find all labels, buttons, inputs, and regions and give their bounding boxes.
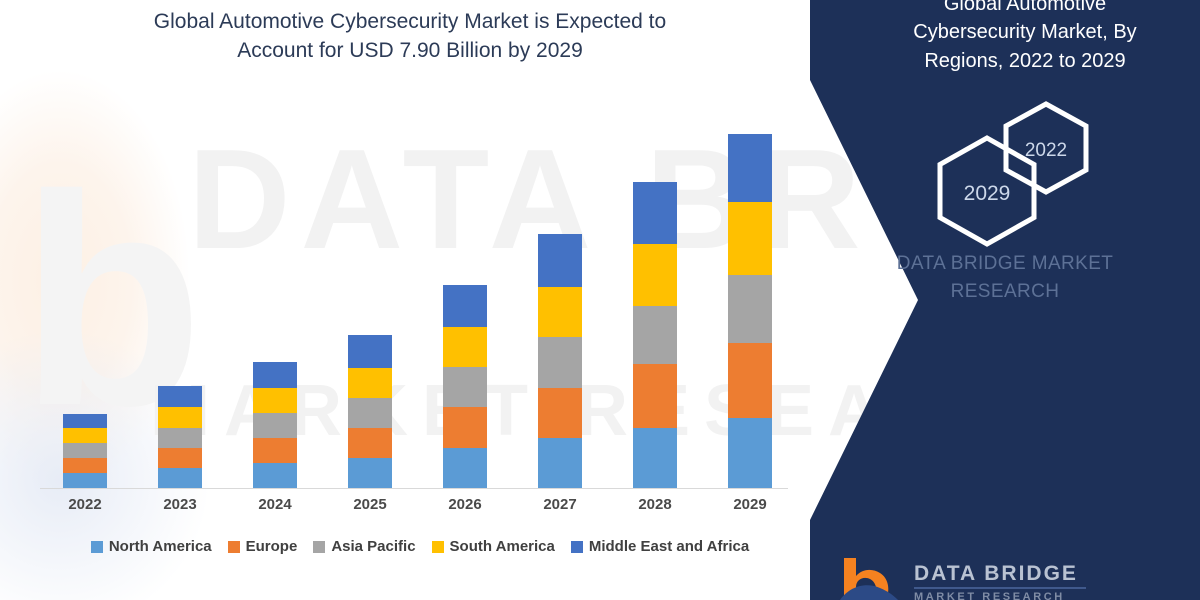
chart-title-line-2: Account for USD 7.90 Billion by 2029 — [237, 39, 583, 62]
bar-segment-asia-pacific[interactable] — [728, 275, 772, 344]
x-axis-label-2026: 2026 — [420, 496, 510, 513]
legend-item-north-america[interactable]: North America — [91, 538, 212, 555]
brand-title-line-3: Regions, 2022 to 2029 — [924, 50, 1125, 72]
bar-segment-south-america[interactable] — [538, 287, 582, 337]
bar-segment-north-america[interactable] — [158, 468, 202, 488]
bar-segment-south-america[interactable] — [253, 388, 297, 413]
bar-segment-north-america[interactable] — [348, 458, 392, 488]
bar-segment-middle-east-and-africa[interactable] — [443, 285, 487, 327]
bar-segment-middle-east-and-africa[interactable] — [253, 362, 297, 388]
bar-segment-north-america[interactable] — [443, 448, 487, 488]
bar-segment-north-america[interactable] — [728, 418, 772, 488]
chart-title-line-1: Global Automotive Cybersecurity Market i… — [154, 10, 666, 33]
bar-segment-south-america[interactable] — [63, 428, 107, 443]
bar-group-2029 — [705, 100, 795, 488]
bar-group-2025 — [325, 100, 415, 488]
chart-legend: North AmericaEuropeAsia PacificSouth Ame… — [40, 538, 800, 555]
bar-segment-europe[interactable] — [633, 364, 677, 428]
bar-segment-asia-pacific[interactable] — [253, 413, 297, 438]
legend-item-asia-pacific[interactable]: Asia Pacific — [313, 538, 415, 555]
bar-segment-south-america[interactable] — [633, 244, 677, 305]
brand-title-line-2: Cybersecurity Market, By — [913, 21, 1136, 43]
bar-group-2023 — [135, 100, 225, 488]
logo-divider — [914, 587, 1086, 589]
bar-segment-north-america[interactable] — [253, 463, 297, 488]
brand-title-line-1: Global Automotive — [944, 0, 1106, 15]
legend-swatch-icon — [432, 541, 444, 553]
bar-segment-asia-pacific[interactable] — [348, 398, 392, 428]
x-axis-label-2029: 2029 — [705, 496, 795, 513]
brand-name-line-1: DATA BRIDGE MARKET — [897, 253, 1114, 274]
legend-swatch-icon — [91, 541, 103, 553]
brand-name-line-2: RESEARCH — [951, 281, 1060, 302]
logo-subtitle: MARKET RESEARCH — [914, 591, 1086, 600]
infographic-canvas: b DATA BRIDGE MARKET RESEARCH Global Aut… — [0, 0, 1200, 600]
x-axis-label-2027: 2027 — [515, 496, 605, 513]
bar-segment-europe[interactable] — [538, 388, 582, 438]
chart-title: Global Automotive Cybersecurity Market i… — [60, 8, 760, 66]
legend-swatch-icon — [571, 541, 583, 553]
hexagon-start-year-label: 2022 — [1025, 140, 1067, 162]
stacked-bar[interactable] — [443, 285, 487, 488]
bar-segment-asia-pacific[interactable] — [633, 306, 677, 364]
bar-segment-europe[interactable] — [158, 448, 202, 468]
x-axis-tick-labels: 20222023202420252026202720282029 — [40, 496, 800, 522]
bar-segment-south-america[interactable] — [348, 368, 392, 398]
stacked-bar[interactable] — [253, 362, 297, 488]
bar-segment-asia-pacific[interactable] — [158, 428, 202, 448]
stacked-bar[interactable] — [633, 182, 677, 488]
legend-label: South America — [450, 538, 555, 555]
bar-segment-north-america[interactable] — [633, 428, 677, 488]
legend-item-middle-east-and-africa[interactable]: Middle East and Africa — [571, 538, 749, 555]
stacked-bar[interactable] — [538, 234, 582, 488]
bar-segment-middle-east-and-africa[interactable] — [728, 134, 772, 202]
brand-name-text: DATA BRIDGE MARKET RESEARCH — [830, 250, 1180, 305]
stacked-bar[interactable] — [728, 134, 772, 488]
bar-segment-middle-east-and-africa[interactable] — [158, 386, 202, 407]
legend-swatch-icon — [313, 541, 325, 553]
bar-segment-middle-east-and-africa[interactable] — [63, 414, 107, 428]
bar-group-2026 — [420, 100, 510, 488]
legend-label: Middle East and Africa — [589, 538, 749, 555]
bar-segment-middle-east-and-africa[interactable] — [538, 234, 582, 287]
bar-segment-north-america[interactable] — [63, 473, 107, 488]
bar-segment-middle-east-and-africa[interactable] — [348, 335, 392, 368]
brand-panel-content: Global Automotive Cybersecurity Market, … — [810, 0, 1200, 600]
bar-segment-south-america[interactable] — [158, 407, 202, 427]
x-axis-label-2023: 2023 — [135, 496, 225, 513]
plot-area — [40, 100, 800, 488]
bar-segment-europe[interactable] — [348, 428, 392, 458]
legend-item-europe[interactable]: Europe — [228, 538, 298, 555]
bar-segment-asia-pacific[interactable] — [538, 337, 582, 387]
chart-panel: b DATA BRIDGE MARKET RESEARCH Global Aut… — [0, 0, 880, 600]
bar-segment-middle-east-and-africa[interactable] — [633, 182, 677, 244]
x-axis-label-2024: 2024 — [230, 496, 320, 513]
bar-segment-south-america[interactable] — [443, 327, 487, 367]
legend-label: Asia Pacific — [331, 538, 415, 555]
x-axis-label-2028: 2028 — [610, 496, 700, 513]
bar-segment-europe[interactable] — [63, 458, 107, 473]
bar-segment-north-america[interactable] — [538, 438, 582, 488]
bar-segment-europe[interactable] — [253, 438, 297, 463]
bar-segment-europe[interactable] — [728, 343, 772, 417]
legend-swatch-icon — [228, 541, 240, 553]
bar-group-2027 — [515, 100, 605, 488]
logo-title: DATA BRIDGE — [914, 562, 1086, 585]
company-logo: DATA BRIDGE MARKET RESEARCH — [840, 556, 1180, 600]
bar-segment-asia-pacific[interactable] — [443, 367, 487, 407]
bar-group-2022 — [40, 100, 130, 488]
bar-group-2024 — [230, 100, 320, 488]
bar-segment-asia-pacific[interactable] — [63, 443, 107, 457]
brand-panel-title: Global Automotive Cybersecurity Market, … — [870, 0, 1180, 75]
x-axis-label-2025: 2025 — [325, 496, 415, 513]
bar-segment-south-america[interactable] — [728, 202, 772, 275]
hexagon-badge-start-year: 2022 — [1000, 100, 1092, 202]
legend-label: North America — [109, 538, 212, 555]
legend-label: Europe — [246, 538, 298, 555]
bar-segment-europe[interactable] — [443, 407, 487, 447]
legend-item-south-america[interactable]: South America — [432, 538, 555, 555]
stacked-bar[interactable] — [158, 386, 202, 488]
logo-wordmark: DATA BRIDGE MARKET RESEARCH — [914, 556, 1086, 600]
stacked-bar[interactable] — [348, 335, 392, 488]
x-axis-line — [40, 488, 788, 489]
x-axis-label-2022: 2022 — [40, 496, 130, 513]
bar-group-2028 — [610, 100, 700, 488]
bridge-logo-icon — [840, 556, 902, 600]
stacked-bar[interactable] — [63, 414, 107, 488]
